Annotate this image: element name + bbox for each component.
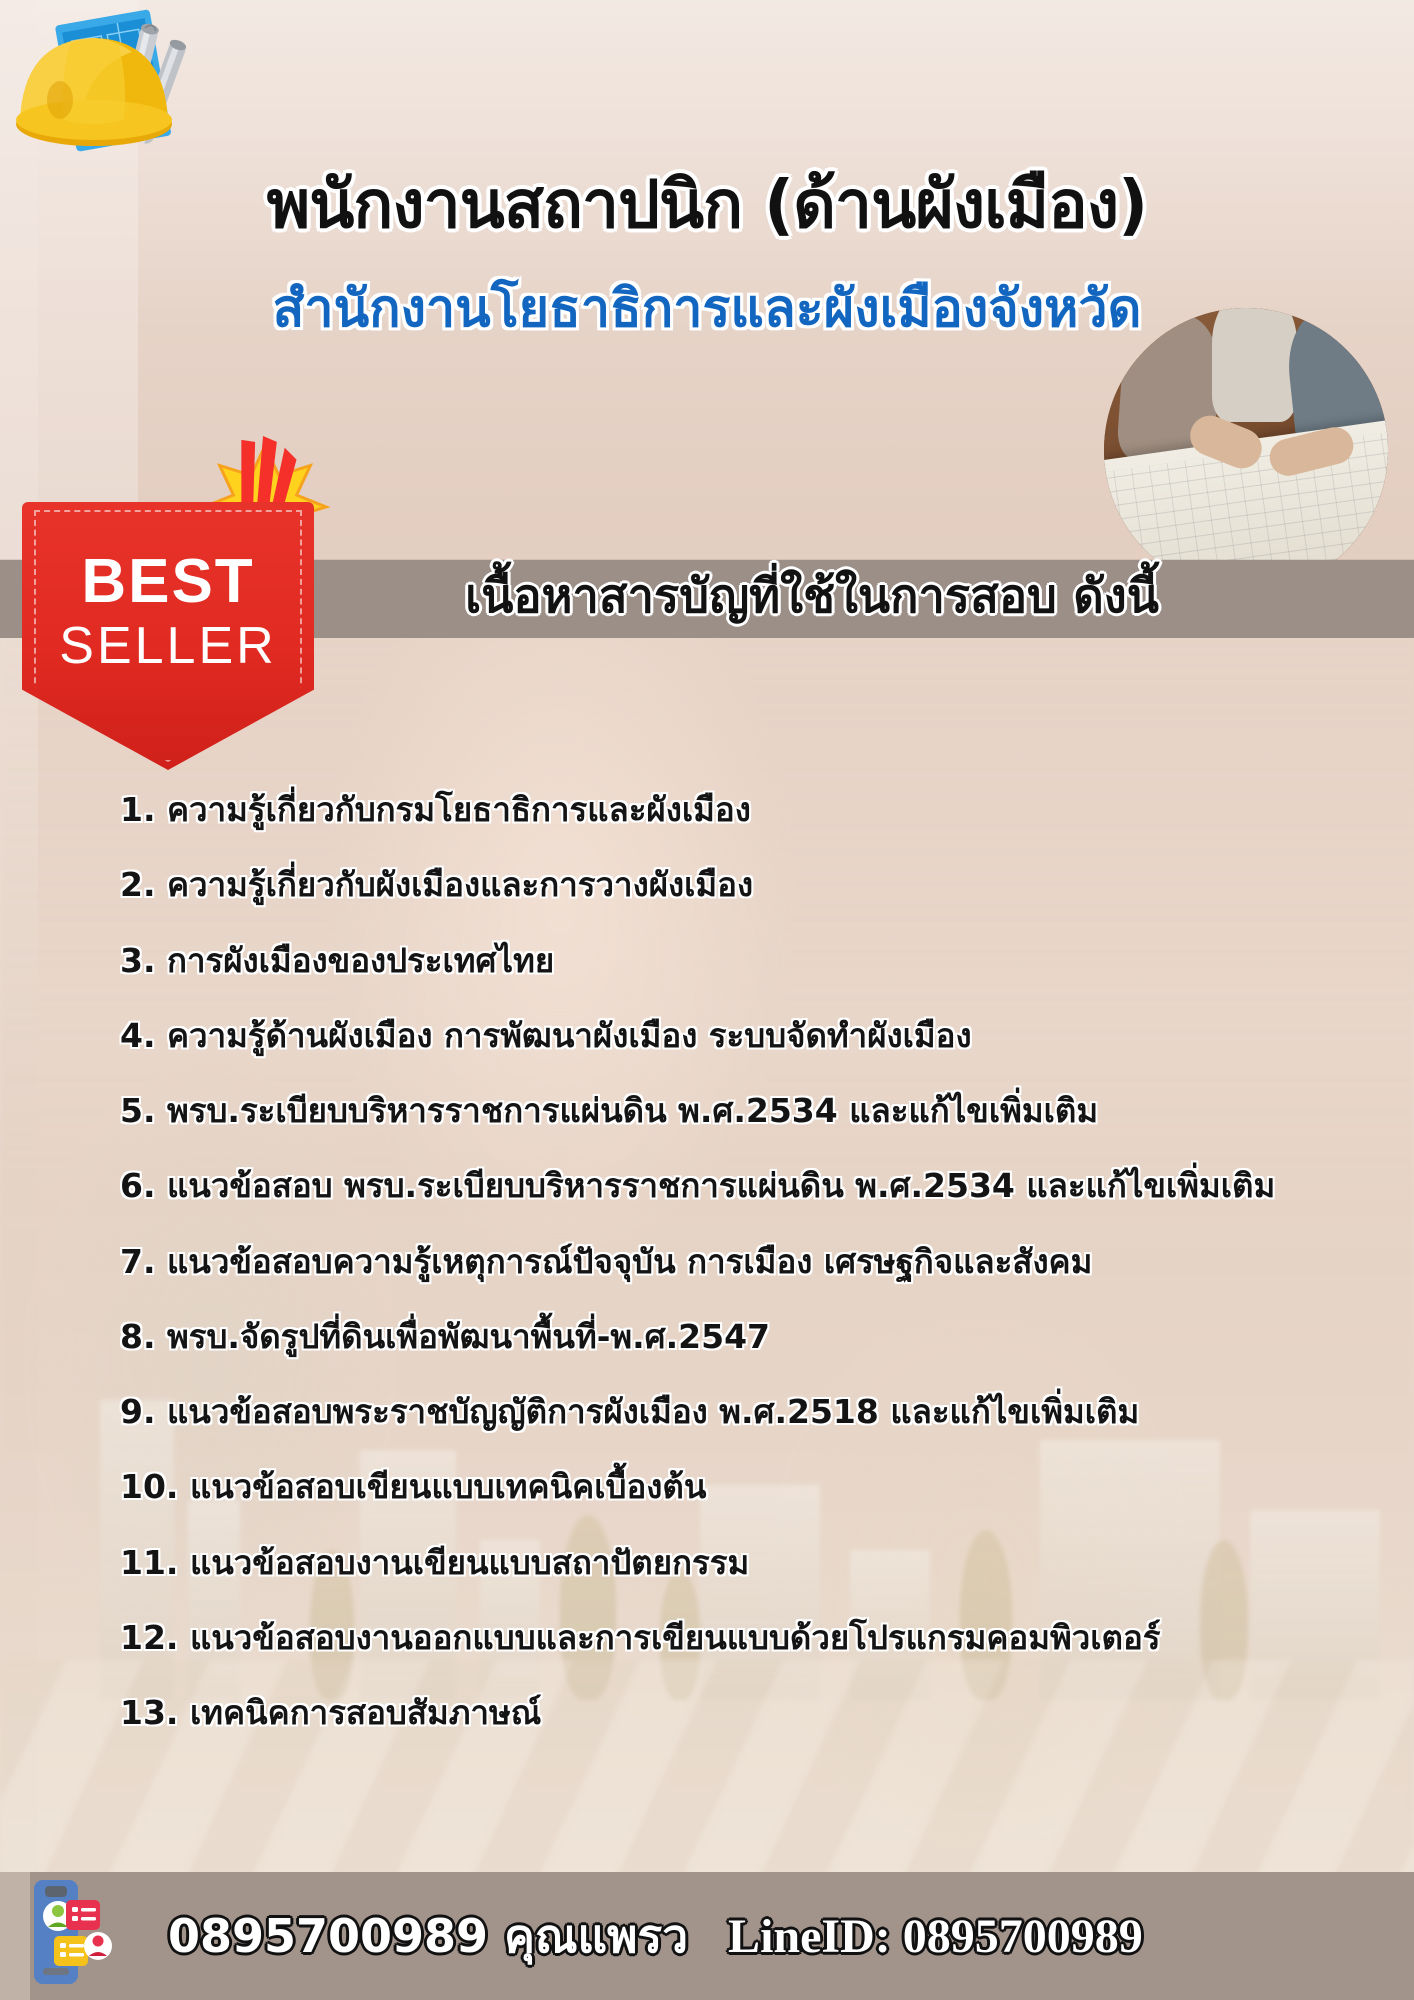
best-seller-badge: BEST SELLER (22, 502, 314, 770)
list-item: 7. แนวข้อสอบความรู้เหตุการณ์ปัจจุบัน การ… (120, 1242, 1374, 1282)
list-item: 11. แนวข้อสอบงานเขียนแบบสถาปัตยกรรม (120, 1543, 1374, 1583)
list-item: 8. พรบ.จัดรูปที่ดินเพื่อพัฒนาพื้นที่-พ.ศ… (120, 1317, 1374, 1357)
footer-phone[interactable]: 0895700989 คุณแพรว (168, 1900, 688, 1973)
list-item: 13. เทคนิคการสอบสัมภาษณ์ (120, 1693, 1374, 1733)
contact-card-icon (28, 1878, 132, 1986)
list-item: 3. การผังเมืองของประเทศไทย (120, 941, 1374, 981)
list-item: 10. แนวข้อสอบเขียนแบบเทคนิคเบื้องต้น (120, 1467, 1374, 1507)
list-item: 5. พรบ.ระเบียบบริหารราชการแผ่นดิน พ.ศ.25… (120, 1091, 1374, 1131)
architects-working-photo (1104, 308, 1388, 592)
topic-list: 1. ความรู้เกี่ยวกับกรมโยธาธิการและผังเมื… (120, 790, 1374, 1768)
list-item: 6. แนวข้อสอบ พรบ.ระเบียบบริหารราชการแผ่น… (120, 1166, 1374, 1206)
poster-root: พนักงานสถาปนิก (ด้านผังเมือง) สำนักงานโย… (0, 0, 1414, 2000)
footer-left-strip (0, 1872, 30, 2000)
list-item: 4. ความรู้ด้านผังเมือง การพัฒนาผังเมือง … (120, 1016, 1374, 1056)
list-item: 2. ความรู้เกี่ยวกับผังเมืองและการวางผังเ… (120, 865, 1374, 905)
badge-seller-label: SELLER (22, 616, 314, 676)
list-item: 9. แนวข้อสอบพระราชบัญญัติการผังเมือง พ.ศ… (120, 1392, 1374, 1432)
page-title: พนักงานสถาปนิก (ด้านผังเมือง) (0, 172, 1414, 238)
list-item: 1. ความรู้เกี่ยวกับกรมโยธาธิการและผังเมื… (120, 790, 1374, 830)
list-item: 12. แนวข้อสอบงานออกแบบและการเขียนแบบด้วย… (120, 1618, 1374, 1658)
badge-best-label: BEST (22, 546, 314, 617)
construction-helmet-icon (8, 4, 238, 174)
footer-line-id[interactable]: LineID: 0895700989 (728, 1909, 1143, 1964)
footer-contact: 0895700989 คุณแพรว LineID: 0895700989 (168, 1872, 1414, 2000)
